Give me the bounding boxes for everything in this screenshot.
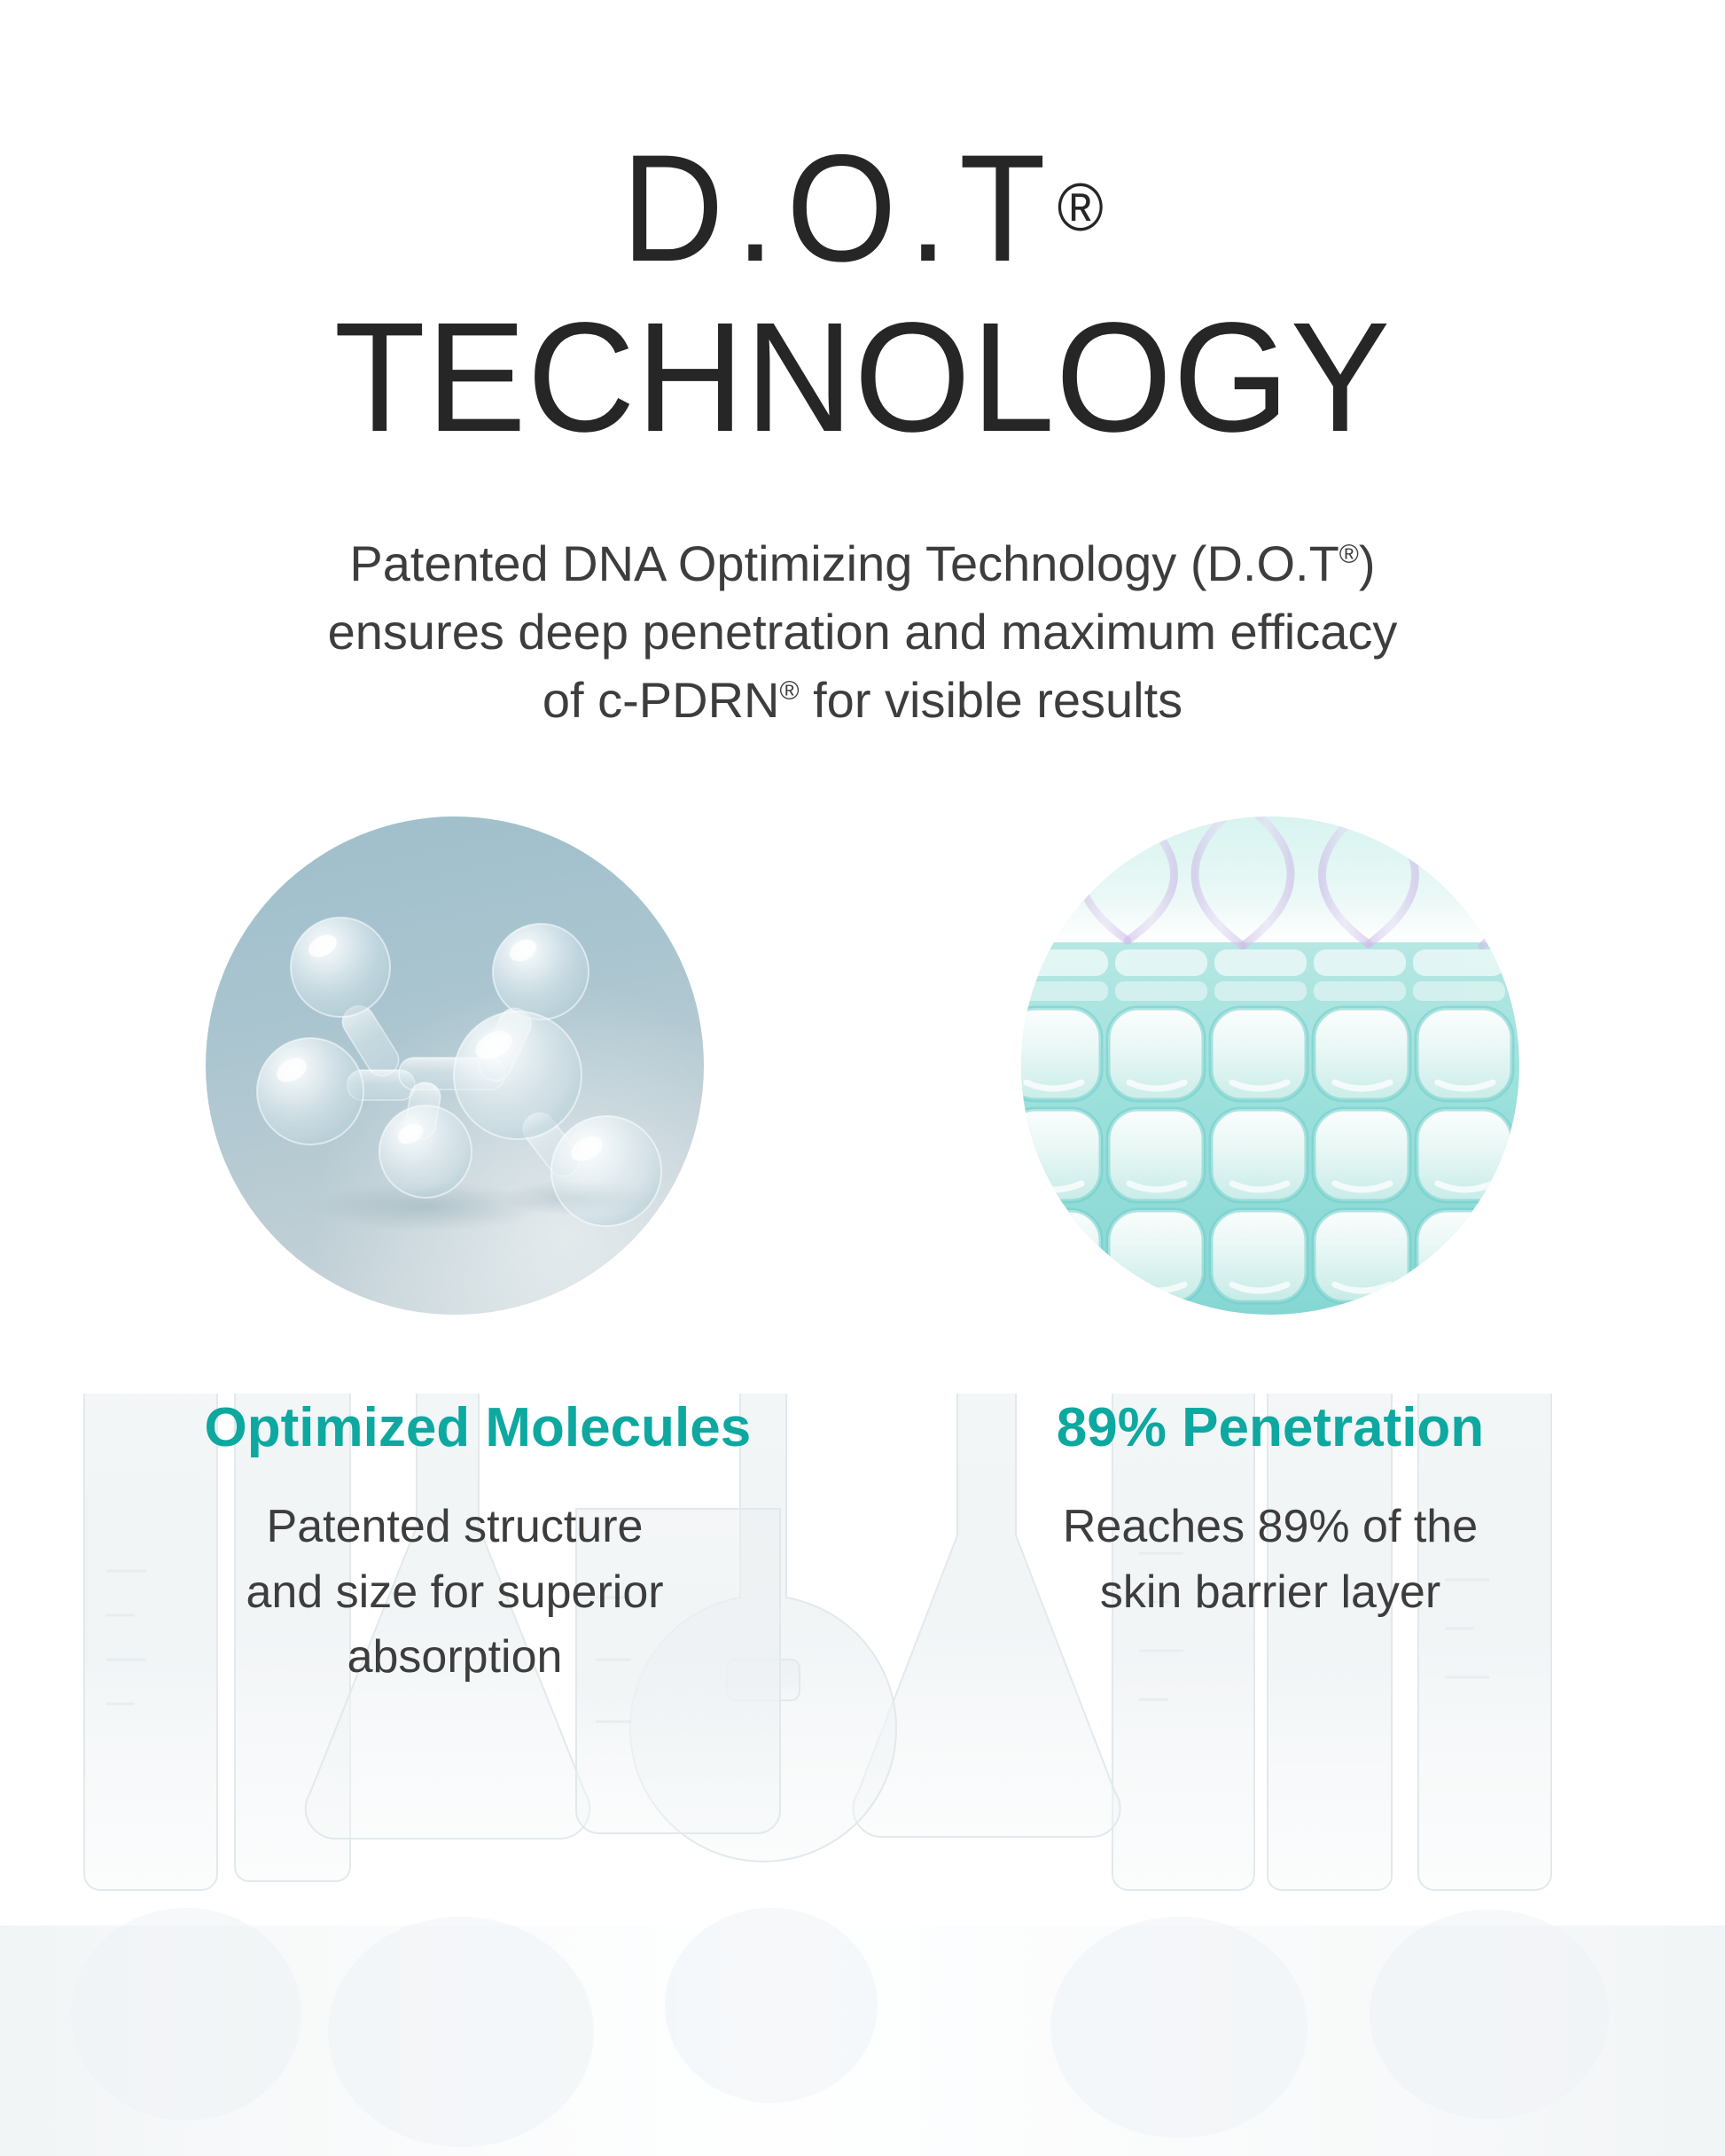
- feature-row: Optimized Molecules Patented structure a…: [0, 816, 1725, 1691]
- feature-penetration: 89% Penetration Reaches 89% of the skin …: [1020, 816, 1521, 1691]
- subtitle-line-3a: of c-PDRN: [542, 672, 780, 728]
- feature-heading-penetration: 89% Penetration: [1020, 1396, 1521, 1459]
- body-line: and size for superior: [205, 1560, 706, 1626]
- feature-body-penetration: Reaches 89% of the skin barrier layer: [1020, 1495, 1521, 1626]
- skin-barrier-graphic: [1021, 816, 1519, 1315]
- subtitle-line-1: Patented DNA Optimizing Technology (D.O.…: [0, 529, 1725, 598]
- subtitle-line-1b: ): [1359, 535, 1376, 591]
- subtitle-line-1a: Patented DNA Optimizing Technology (D.O.…: [349, 535, 1339, 591]
- subtitle-line-3b: for visible results: [800, 672, 1183, 728]
- registered-mark-icon: ®: [1058, 170, 1104, 246]
- subtitle-line-3: of c-PDRN® for visible results: [0, 666, 1725, 734]
- registered-mark-icon: ®: [779, 676, 799, 706]
- title-line-technology: TECHNOLOGY: [35, 299, 1690, 458]
- subtitle-line-2: ensures deep penetration and maximum eff…: [0, 598, 1725, 666]
- molecule-illustration: [206, 816, 704, 1315]
- body-line: absorption: [205, 1625, 706, 1691]
- subtitle: Patented DNA Optimizing Technology (D.O.…: [0, 529, 1725, 735]
- page-title: D.O.T® TECHNOLOGY: [0, 0, 1725, 458]
- skin-barrier-illustration: [1021, 816, 1519, 1315]
- feature-body-optimized-molecules: Patented structure and size for superior…: [205, 1495, 706, 1691]
- molecule-graphic: [206, 816, 704, 1315]
- body-line: Reaches 89% of the: [1020, 1495, 1521, 1560]
- feature-optimized-molecules: Optimized Molecules Patented structure a…: [205, 816, 706, 1691]
- title-line-dot: D.O.T®: [60, 131, 1665, 286]
- body-line: skin barrier layer: [1020, 1560, 1521, 1626]
- registered-mark-icon: ®: [1339, 540, 1359, 569]
- body-line: Patented structure: [205, 1495, 706, 1560]
- title-dot-text: D.O.T: [621, 123, 1058, 293]
- feature-heading-optimized-molecules: Optimized Molecules: [205, 1396, 706, 1459]
